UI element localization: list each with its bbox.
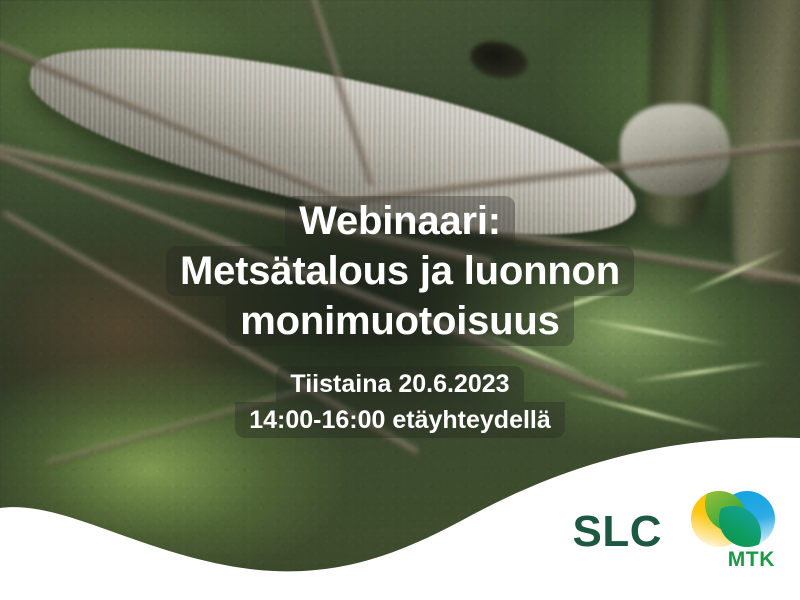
logo-group: SLC (573, 490, 777, 570)
event-time: 14:00-16:00 etäyhteydellä (235, 402, 565, 438)
event-date: Tiistaina 20.6.2023 (276, 366, 523, 402)
webinar-poster: Webinaari: Metsätalous ja luonnon monimu… (0, 0, 800, 600)
mtk-logo: MTK (690, 490, 776, 570)
title-row-3: monimuotoisuus (0, 296, 800, 346)
event-date-row: Tiistaina 20.6.2023 (0, 366, 800, 402)
title-line-1: Webinaari: (285, 196, 515, 246)
headline-block: Webinaari: Metsätalous ja luonnon monimu… (0, 196, 800, 346)
title-line-2: Metsätalous ja luonnon (166, 246, 634, 296)
event-time-row: 14:00-16:00 etäyhteydellä (0, 402, 800, 438)
mtk-wordmark: MTK (728, 549, 775, 570)
title-line-3: monimuotoisuus (226, 296, 573, 346)
mtk-mark-icon (690, 490, 776, 548)
title-row-1: Webinaari: (0, 196, 800, 246)
title-row-2: Metsätalous ja luonnon (0, 246, 800, 296)
slc-logo: SLC (573, 510, 663, 570)
event-details-block: Tiistaina 20.6.2023 14:00-16:00 etäyhtey… (0, 366, 800, 438)
